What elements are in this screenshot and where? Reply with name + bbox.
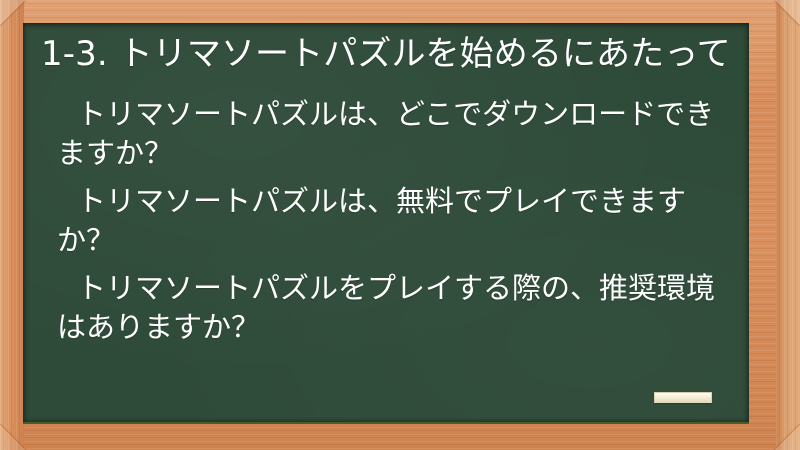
question-item-2: トリマソートパズルは、無料でプレイできますか？ — [39, 182, 733, 259]
chalkboard-surface: 1-3. トリマソートパズルを始めるにあたって トリマソートパズルは、どこでダウ… — [23, 23, 749, 424]
chalk-stick-icon — [654, 392, 712, 403]
wood-frame-right-rail — [776, 0, 800, 450]
frame-corner-bottom-right — [774, 424, 800, 450]
chalkboard-slide: 1-3. トリマソートパズルを始めるにあたって トリマソートパズルは、どこでダウ… — [0, 0, 800, 450]
slide-title: 1-3. トリマソートパズルを始めるにあたって — [39, 33, 733, 75]
question-item-3: トリマソートパズルをプレイする際の、推奨環境はありますか？ — [39, 269, 733, 346]
question-item-1: トリマソートパズルは、どこでダウンロードできますか？ — [39, 95, 733, 172]
chalkboard-content: 1-3. トリマソートパズルを始めるにあたって トリマソートパズルは、どこでダウ… — [23, 23, 749, 422]
question-list: トリマソートパズルは、どこでダウンロードできますか？ トリマソートパズルは、無料… — [39, 95, 733, 346]
wood-frame-left-rail — [0, 0, 24, 450]
frame-corner-bottom-left — [0, 424, 26, 450]
frame-corner-top-right — [774, 0, 800, 26]
